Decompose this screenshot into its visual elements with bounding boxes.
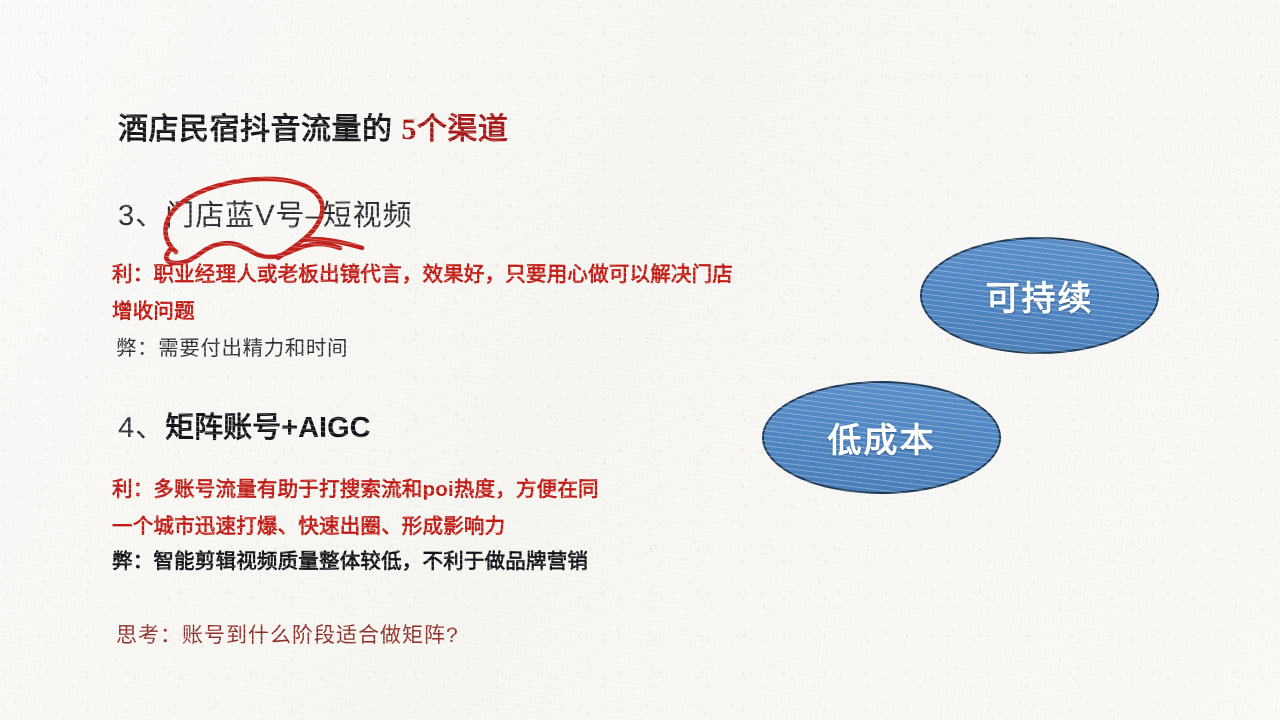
callout-sustainable-label: 可持续 xyxy=(986,271,1094,320)
section-title-4: 矩阵账号+AIGC xyxy=(165,412,370,444)
section-number-3: 3、 xyxy=(118,200,165,232)
section-heading-4: 4、矩阵账号+AIGC xyxy=(118,404,371,446)
section-3-pro-line-1: 利：职业经理人或老板出镜代言，效果好，只要用心做可以解决门店 xyxy=(112,257,733,287)
page-title-lead: 酒店民宿抖音流量的 xyxy=(118,113,401,146)
section-3-con-line: 弊：需要付出精力和时间 xyxy=(116,331,348,361)
page-title-accent-text: 个渠道 xyxy=(417,113,509,146)
section-4-con-line: 弊：智能剪辑视频质量整体较低，不利于做品牌营销 xyxy=(112,544,588,574)
section-number-4: 4、 xyxy=(118,412,165,444)
section-heading-3: 3、门店蓝V号–短视频 xyxy=(118,192,413,234)
section-4-pro-line-2: 一个城市迅速打爆、快速出圈、形成影响力 xyxy=(112,509,505,539)
section-title-3: 门店蓝V号–短视频 xyxy=(165,200,412,232)
reflection-question: 思考：账号到什么阶段适合做矩阵? xyxy=(116,619,459,649)
section-4-pro-line-1: 利：多账号流量有助于打搜索流和poi热度，方便在同 xyxy=(112,472,599,502)
slide-canvas: 酒店民宿抖音流量的 5个渠道 3、门店蓝V号–短视频 利：职业经理人或老板出镜代… xyxy=(0,0,1280,720)
page-title-accent-number: 5 xyxy=(401,113,417,146)
page-title-accent: 5个渠道 xyxy=(401,113,508,146)
callout-sustainable: 可持续 xyxy=(920,237,1159,354)
section-3-pro-line-2: 增收问题 xyxy=(112,294,195,324)
page-title: 酒店民宿抖音流量的 5个渠道 xyxy=(118,104,508,148)
callout-lowcost: 低成本 xyxy=(762,381,1001,494)
callout-lowcost-label: 低成本 xyxy=(828,413,936,462)
